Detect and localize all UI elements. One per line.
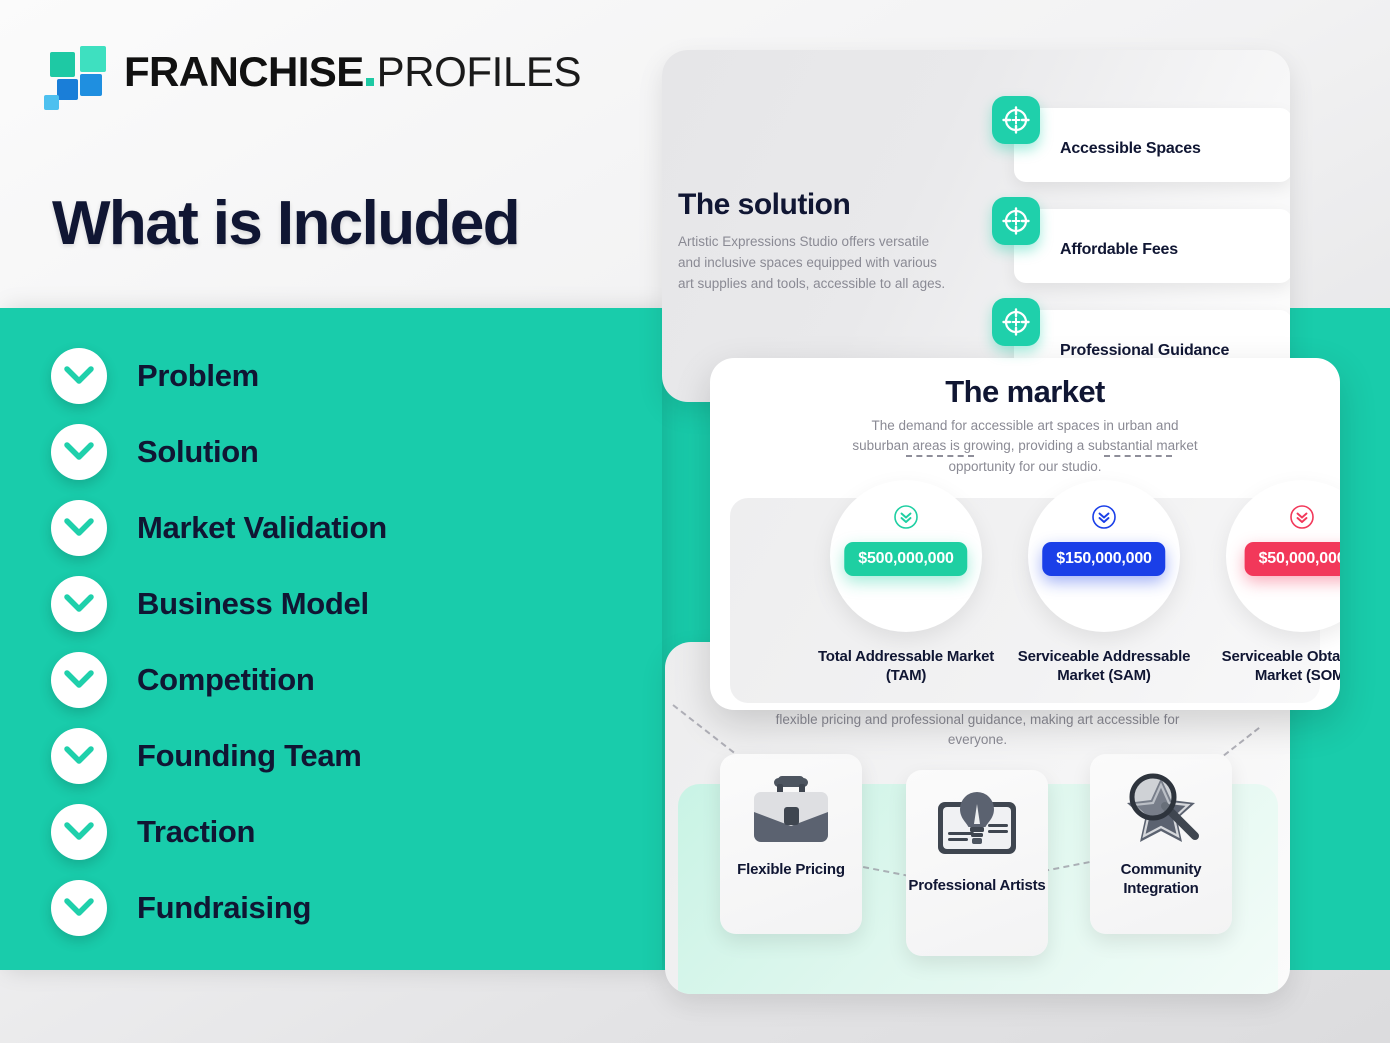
feature-label: Professional Artists xyxy=(908,877,1045,896)
double-chevron-down-icon xyxy=(893,504,919,535)
checklist-item[interactable]: Market Validation xyxy=(51,500,387,556)
included-checklist: ProblemSolutionMarket ValidationBusiness… xyxy=(51,348,387,936)
double-chevron-down-icon xyxy=(1289,504,1315,535)
market-segment-name: Total Addressable Market (TAM) xyxy=(814,648,999,686)
market-dash-connector-1 xyxy=(906,455,974,457)
briefcase-icon xyxy=(748,772,834,853)
logo-word-franchise: FRANCHISE xyxy=(124,48,364,96)
checklist-item-label: Business Model xyxy=(137,586,369,622)
checklist-item[interactable]: Business Model xyxy=(51,576,387,632)
brand-logo[interactable]: FRANCHISE PROFILES xyxy=(44,46,581,98)
solution-feature-label: Affordable Fees xyxy=(1060,241,1178,259)
checklist-item[interactable]: Competition xyxy=(51,652,387,708)
feature-card-community-integration[interactable]: Community Integration xyxy=(1090,754,1232,934)
feature-card-professional-artists[interactable]: Professional Artists xyxy=(906,770,1048,956)
feature-label: Community Integration xyxy=(1090,861,1232,899)
solution-description: Artistic Expressions Studio offers versa… xyxy=(678,232,954,295)
chevron-down-icon xyxy=(51,652,107,708)
solution-title: The solution xyxy=(678,188,850,222)
logo-mark-icon xyxy=(44,46,106,98)
lightbulb-board-icon xyxy=(932,788,1022,869)
checklist-item-label: Founding Team xyxy=(137,738,362,774)
checklist-item-label: Problem xyxy=(137,358,259,394)
page-title: What is Included xyxy=(52,188,519,259)
solution-feature-row[interactable]: Affordable Fees xyxy=(992,197,1290,271)
bottom-card-description: flexible pricing and professional guidan… xyxy=(768,710,1188,751)
chevron-down-icon xyxy=(51,424,107,480)
solution-feature-label: Accessible Spaces xyxy=(1060,140,1201,158)
feature-card-flexible-pricing[interactable]: Flexible Pricing xyxy=(720,754,862,934)
market-segment-value: $50,000,000 xyxy=(1245,542,1340,576)
checklist-item-label: Fundraising xyxy=(137,890,311,926)
logo-word-profiles: PROFILES xyxy=(377,48,582,96)
chevron-down-icon xyxy=(51,728,107,784)
magnifier-star-icon xyxy=(1115,772,1207,853)
checklist-item[interactable]: Founding Team xyxy=(51,728,387,784)
logo-dot-icon xyxy=(366,78,374,86)
checklist-item[interactable]: Problem xyxy=(51,348,387,404)
checklist-item[interactable]: Solution xyxy=(51,424,387,480)
solution-feature-label: Professional Guidance xyxy=(1060,342,1229,360)
logo-wordmark: FRANCHISE PROFILES xyxy=(124,48,581,96)
market-segment-value: $150,000,000 xyxy=(1042,542,1165,576)
market-dash-connector-2 xyxy=(1104,455,1172,457)
checklist-item-label: Traction xyxy=(137,814,255,850)
feature-label: Flexible Pricing xyxy=(737,861,845,880)
double-chevron-down-icon xyxy=(1091,504,1117,535)
target-icon xyxy=(992,96,1040,144)
target-icon xyxy=(992,197,1040,245)
checklist-item[interactable]: Fundraising xyxy=(51,880,387,936)
market-segment-value: $500,000,000 xyxy=(844,542,967,576)
market-title: The market xyxy=(710,374,1340,410)
solution-card: The solution Artistic Expressions Studio… xyxy=(662,50,1290,402)
market-card: The market The demand for accessible art… xyxy=(710,358,1340,710)
chevron-down-icon xyxy=(51,804,107,860)
solution-feature-row[interactable]: Accessible Spaces xyxy=(992,96,1290,170)
target-icon xyxy=(992,298,1040,346)
market-segment-name: Serviceable Addressable Market (SAM) xyxy=(1012,648,1197,686)
chevron-down-icon xyxy=(51,880,107,936)
market-segment-name: Serviceable Obtainable Market (SOM) xyxy=(1210,648,1341,686)
checklist-item-label: Solution xyxy=(137,434,259,470)
chevron-down-icon xyxy=(51,348,107,404)
checklist-item-label: Competition xyxy=(137,662,315,698)
checklist-item[interactable]: Traction xyxy=(51,804,387,860)
chevron-down-icon xyxy=(51,576,107,632)
market-description: The demand for accessible art spaces in … xyxy=(845,416,1205,477)
checklist-item-label: Market Validation xyxy=(137,510,387,546)
chevron-down-icon xyxy=(51,500,107,556)
